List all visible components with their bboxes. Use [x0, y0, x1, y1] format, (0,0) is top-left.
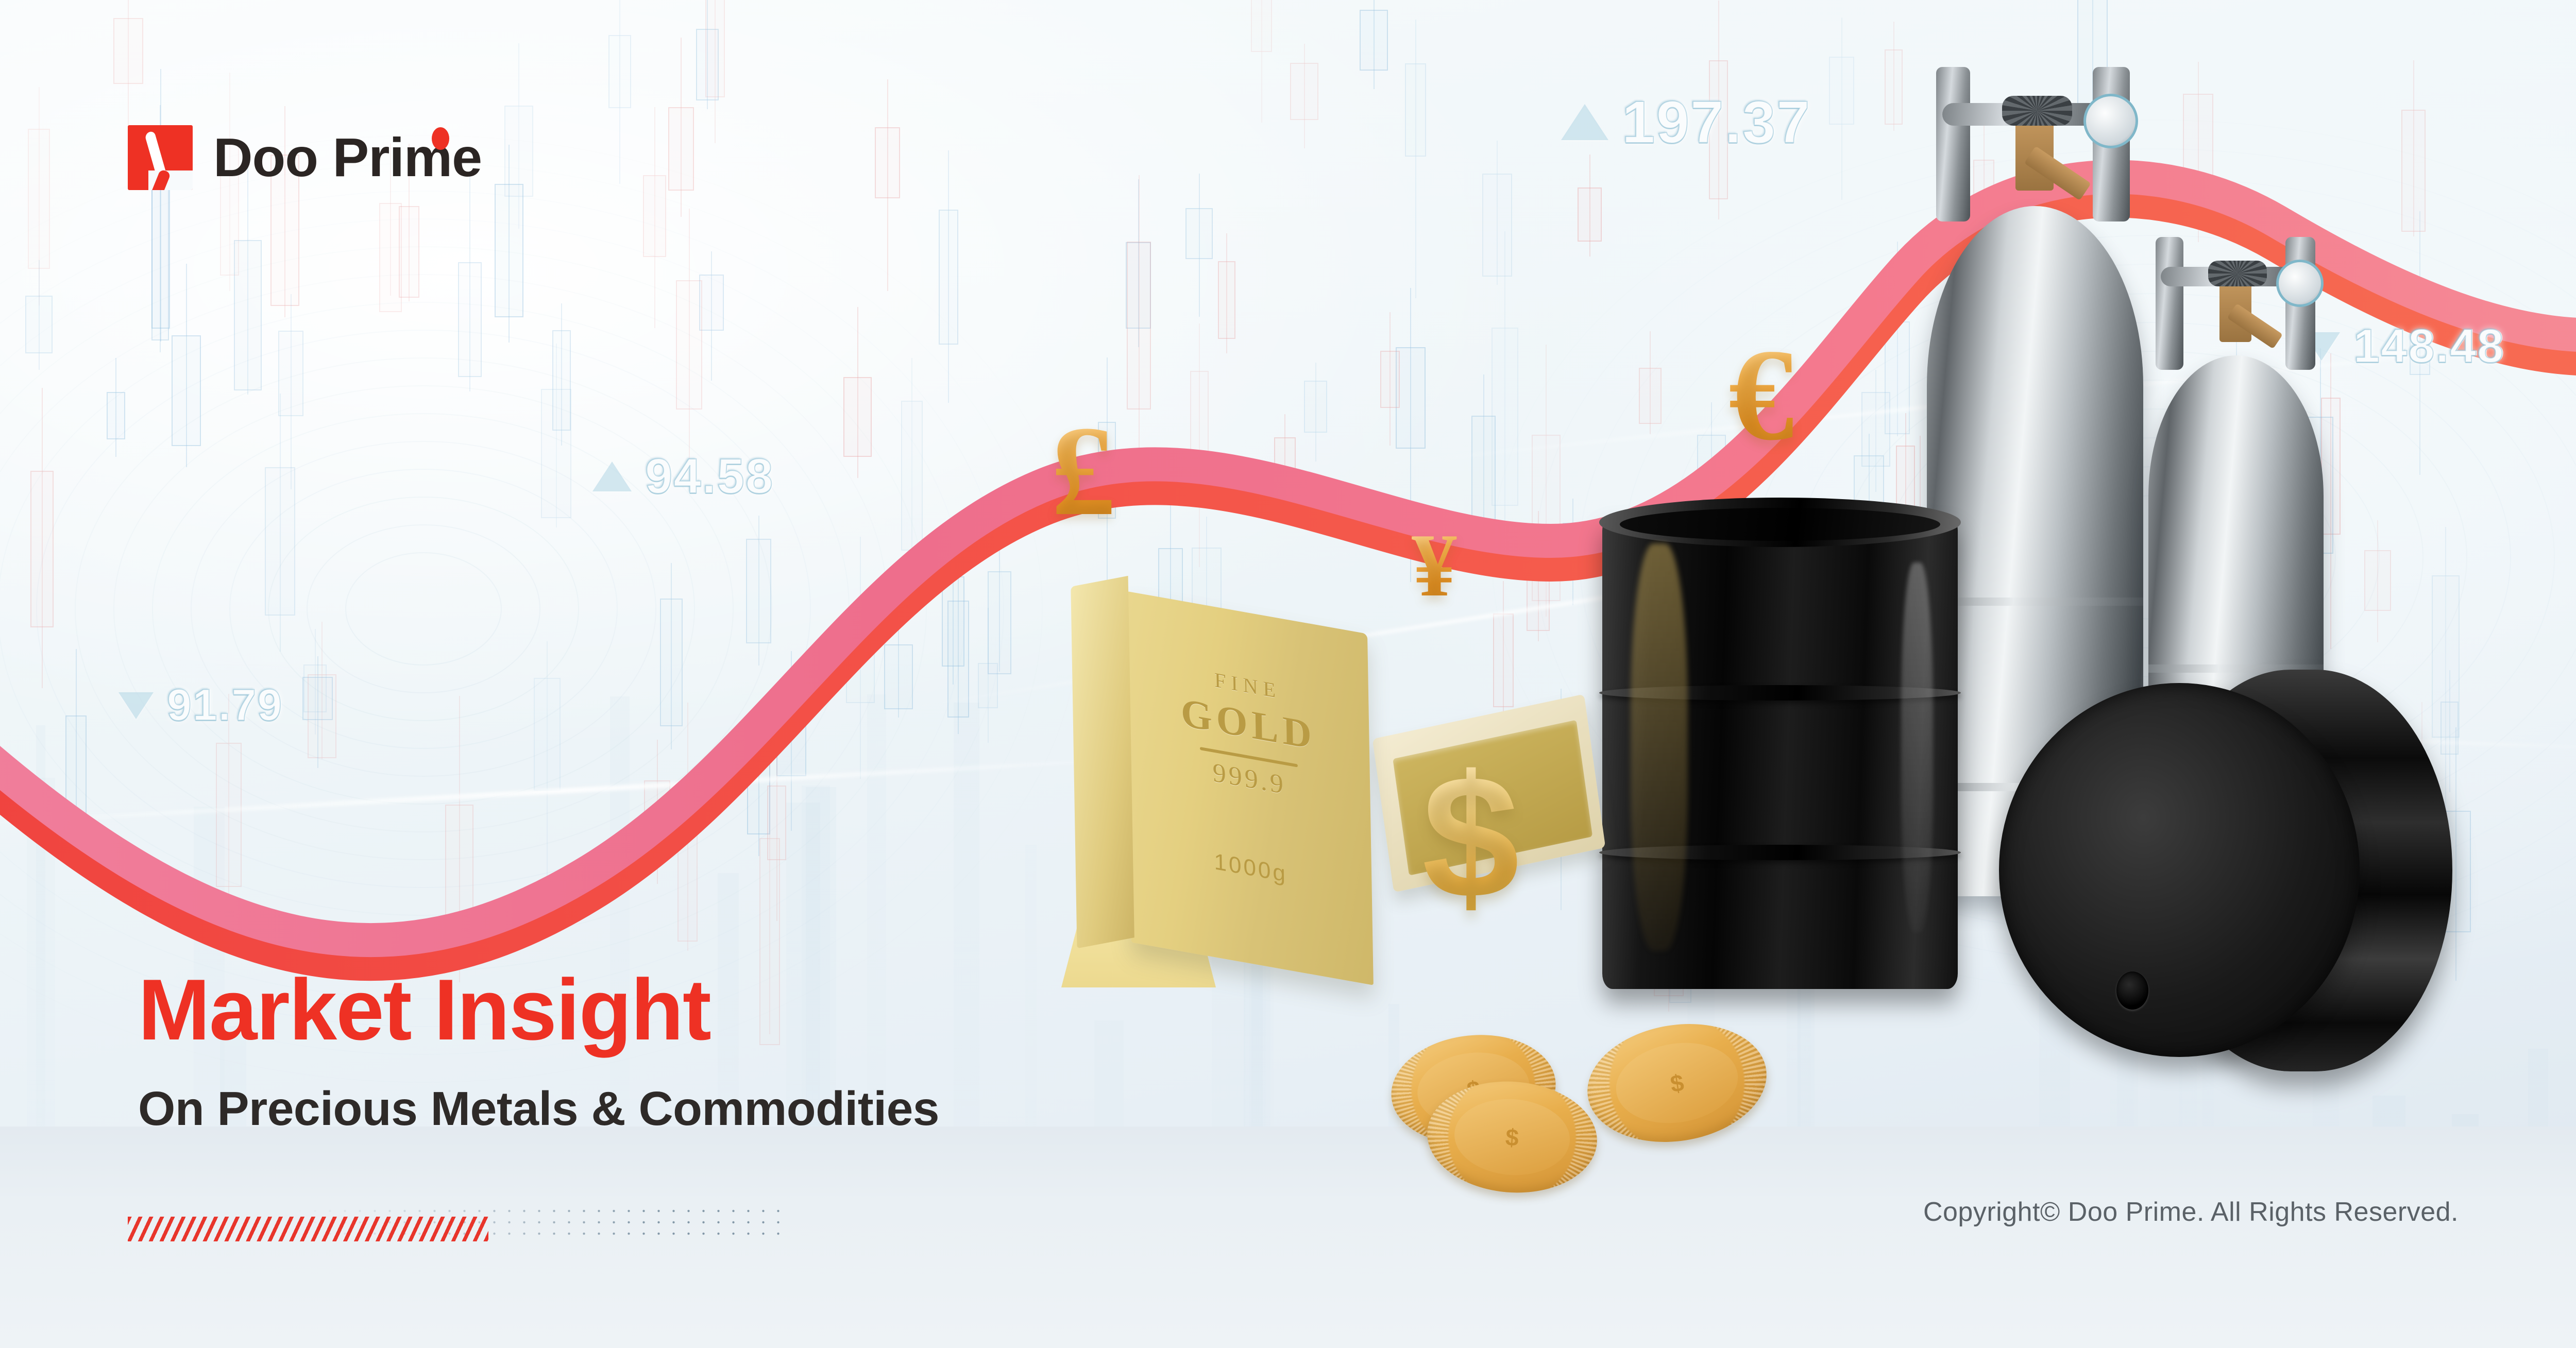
ticker-value: 197.37 [1622, 88, 1811, 157]
logo-accent-dot-icon [432, 127, 449, 150]
ticker-value: 91.79 [167, 680, 283, 731]
triangle-up-icon [592, 462, 632, 491]
page-subtitle: On Precious Metals & Commodities [138, 1085, 939, 1133]
brand-logo[interactable]: Doo Prime [128, 125, 482, 190]
page-title: Market Insight [138, 966, 939, 1053]
triangle-down-icon [2303, 332, 2340, 361]
ticker-quote-3: 197.37 [1561, 88, 1811, 157]
brand-logo-text: Doo Prime [213, 130, 482, 185]
market-insight-banner: 91.79 94.58 197.37 148.48 [0, 0, 2576, 1348]
copyright-text: Copyright© Doo Prime. All Rights Reserve… [1923, 1197, 2459, 1227]
ticker-quote-1: 91.79 [118, 680, 283, 731]
ticker-value: 94.58 [645, 448, 774, 505]
decorative-red-stripes [128, 1217, 488, 1241]
triangle-up-icon [1561, 104, 1608, 140]
ticker-quote-2: 94.58 [592, 448, 774, 505]
ticker-value: 148.48 [2353, 319, 2504, 373]
decorative-accent [128, 1205, 787, 1241]
triangle-down-icon [118, 692, 154, 719]
ticker-quote-4: 148.48 [2303, 319, 2504, 373]
headline-block: Market Insight On Precious Metals & Comm… [138, 966, 939, 1133]
doo-prime-flag-mark-icon [128, 125, 193, 190]
